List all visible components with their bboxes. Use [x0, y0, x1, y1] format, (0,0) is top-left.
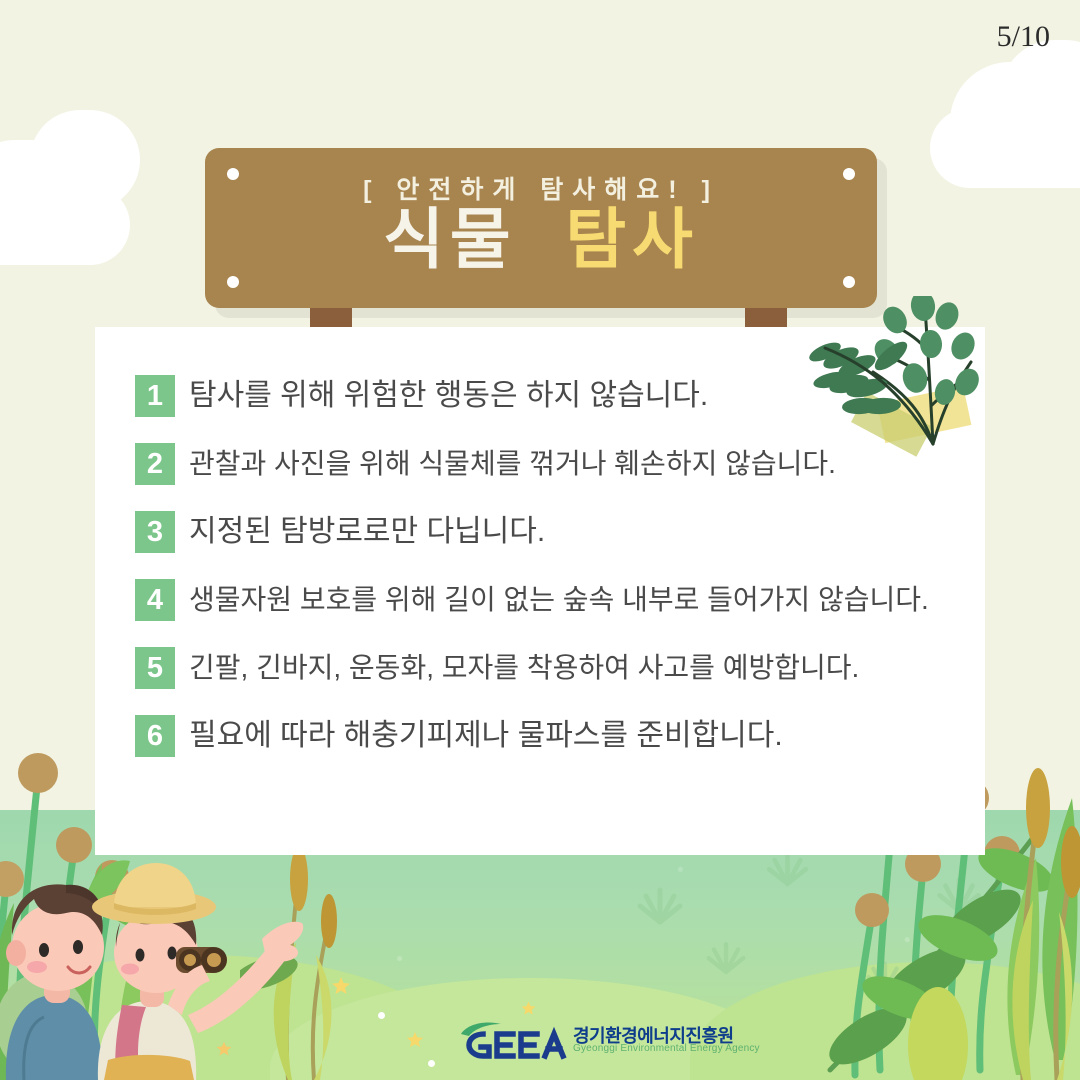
flower-sparkle-icon: [405, 1030, 425, 1050]
geea-logo-mark: [455, 1018, 571, 1062]
grass-tuft-icon: [630, 880, 690, 925]
sign-title-part2: 탐사: [565, 202, 698, 276]
grass-tuft-icon: [700, 935, 752, 975]
list-item: 4 생물자원 보호를 위해 길이 없는 숲속 내부로 들어가지 않습니다.: [135, 579, 955, 621]
list-item-text: 긴팔, 긴바지, 운동화, 모자를 착용하여 사고를 예방합니다.: [189, 647, 859, 689]
sign-title: 식물 탐사: [205, 206, 877, 272]
list-item-text: 관찰과 사진을 위해 식물체를 꺾거나 훼손하지 않습니다.: [189, 443, 836, 485]
botanical-sprig-icon: [795, 296, 985, 461]
list-item-number: 6: [135, 715, 175, 757]
list-item-text: 탐사를 위해 위험한 행동은 하지 않습니다.: [189, 375, 708, 417]
sign-subtitle: [ 안전하게 탐사해요! ]: [205, 170, 877, 206]
list-item: 5 긴팔, 긴바지, 운동화, 모자를 착용하여 사고를 예방합니다.: [135, 647, 955, 689]
list-item-number: 4: [135, 579, 175, 621]
logo-english-name: Gyeonggi Environmental Energy Agency: [573, 1043, 760, 1054]
list-item: 6 필요에 따라 해충기피제나 물파스를 준비합니다.: [135, 715, 955, 757]
list-item: 3 지정된 탐방로로만 다닙니다.: [135, 511, 955, 553]
sign-board: [ 안전하게 탐사해요! ] 식물 탐사: [205, 148, 877, 308]
list-item-text: 지정된 탐방로로만 다닙니다.: [189, 511, 545, 553]
page-indicator: 5/10: [997, 20, 1050, 54]
list-item-number: 1: [135, 375, 175, 417]
list-item-number: 2: [135, 443, 175, 485]
dot-sparkle-icon: [378, 1012, 385, 1019]
cattail-plant-icon: [985, 750, 1080, 1080]
sign-title-part1: 식물: [383, 202, 516, 276]
organization-logo: 경기환경에너지진흥원 Gyeonggi Environmental Energy…: [455, 1018, 705, 1066]
dot-sparkle-icon: [428, 1060, 435, 1067]
list-item-number: 5: [135, 647, 175, 689]
screw-icon: [227, 276, 239, 288]
list-item-text: 생물자원 보호를 위해 길이 없는 숲속 내부로 들어가지 않습니다.: [189, 579, 929, 621]
wooden-sign: [ 안전하게 탐사해요! ] 식물 탐사: [205, 148, 877, 328]
poster-canvas: 5/10: [0, 0, 1080, 1080]
flower-sparkle-icon: [520, 1000, 537, 1017]
two-children-exploring-illustration: [0, 855, 310, 1080]
list-item-number: 3: [135, 511, 175, 553]
screw-icon: [843, 276, 855, 288]
list-item-text: 필요에 따라 해충기피제나 물파스를 준비합니다.: [189, 715, 783, 757]
